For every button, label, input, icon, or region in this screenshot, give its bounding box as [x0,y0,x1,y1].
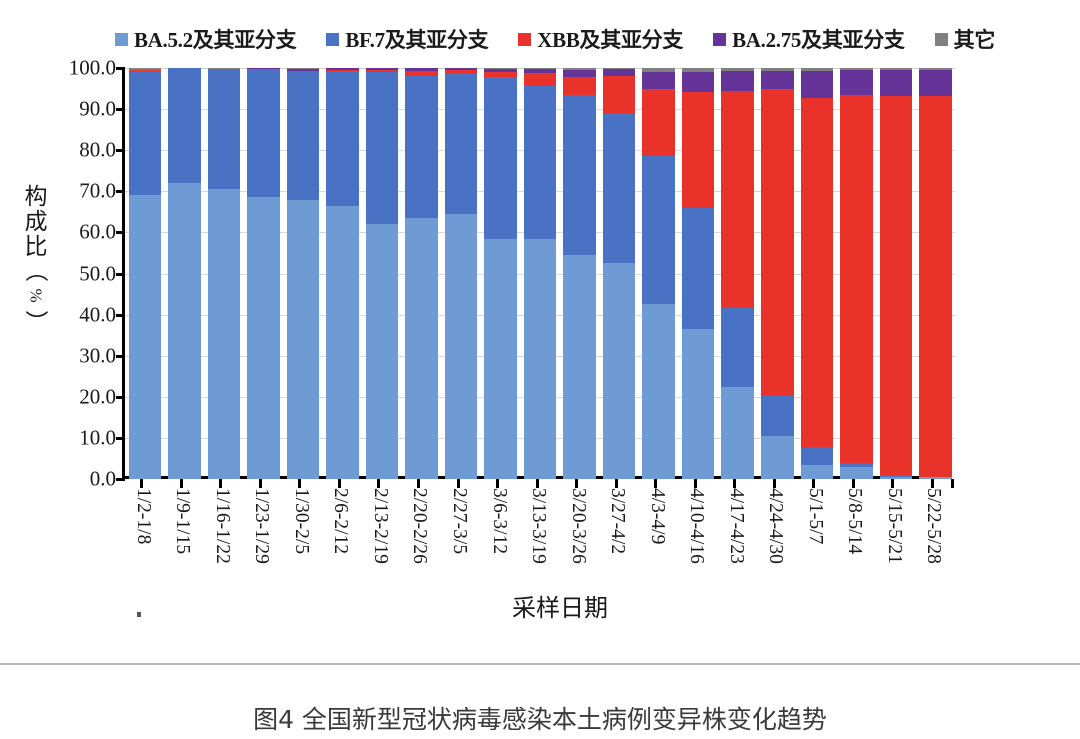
x-axis-tick-mark [259,479,262,488]
x-axis-tick-mark [852,479,855,488]
x-axis-tick-mark [694,479,697,488]
x-axis-tick-mark [733,479,736,488]
bar-segment-xbb [840,95,873,464]
plot-wrapper: 0.010.020.030.040.050.060.070.080.090.01… [122,68,952,483]
x-axis-label: 2/6-2/12 [330,488,352,554]
bar-segment-xbb [801,98,834,446]
stray-mark [137,612,141,617]
x-axis-label-cell: 5/8-5/14 [834,488,874,583]
bar-column[interactable] [323,68,363,479]
x-axis-tick-mark [496,479,499,488]
x-axis-tick-cell [517,479,557,488]
x-axis-tick-mark [338,479,341,488]
bar-stack [721,68,754,479]
bar-column[interactable] [362,68,402,479]
bar-stack [880,68,913,479]
y-axis-title-paren-close: ） [25,299,48,343]
bar-segment-ba52 [208,189,241,479]
x-axis-tick-cell [438,479,478,488]
bar-segment-ba275 [721,71,754,92]
x-axis-tick-mark [615,479,618,488]
bar-column[interactable] [837,68,877,479]
legend-label: BF.7及其亚分支 [345,24,488,54]
bar-column[interactable] [916,68,956,479]
bar-column[interactable] [204,68,244,479]
bar-stack [247,68,280,479]
legend-item: 其它 [935,24,995,54]
x-axis-tick-cell [913,479,953,488]
y-axis-tick-mark [116,396,125,399]
figure-caption: 图4 全国新型冠状病毒感染本土病例变异株变化趋势 [0,700,1080,736]
x-axis-label-cell: 5/15-5/21 [873,488,913,583]
bar-segment-bf7 [366,72,399,224]
x-axis-label: 3/20-3/26 [567,488,589,564]
y-axis-tick-mark [116,190,125,193]
x-axis-tick-cell [834,479,874,488]
bar-segment-ba52 [326,206,359,479]
y-axis-tick-label: 0.0 [90,467,116,492]
bar-column[interactable] [520,68,560,479]
bar-segment-xbb [682,92,715,208]
x-axis-label: 2/27-3/5 [448,488,470,554]
y-axis-tick-label: 90.0 [79,97,116,122]
bar-segment-bf7 [642,156,675,304]
bar-stack [603,68,636,479]
bar-stack [524,68,557,479]
bar-column[interactable] [797,68,837,479]
bar-column[interactable] [718,68,758,479]
y-axis-title: 构成比（%） [14,185,58,333]
bar-segment-bf7 [761,396,794,436]
bar-segment-ba52 [445,214,478,479]
x-axis-tick-cell [399,479,439,488]
x-axis-tick-mark [219,479,222,488]
x-axis-label: 4/17-4/23 [725,488,747,564]
x-axis-tick-cell [873,479,913,488]
y-axis-tick-mark [116,355,125,358]
legend-swatch-icon [713,33,726,46]
bar-stack [682,68,715,479]
x-axis-label: 3/6-3/12 [488,488,510,554]
figure-container: BA.5.2及其亚分支BF.7及其亚分支XBB及其亚分支BA.2.75及其亚分支… [0,0,1080,739]
y-axis-tick-label: 50.0 [79,261,116,286]
x-axis-tick-cell [636,479,676,488]
bar-stack [642,68,675,479]
x-axis-title: 采样日期 [0,588,1080,623]
bar-segment-bf7 [208,69,241,189]
x-axis-tick-cell [320,479,360,488]
x-axis-label: 5/15-5/21 [883,488,905,564]
bar-column[interactable] [678,68,718,479]
x-axis-label-cell: 2/20-2/26 [399,488,439,583]
y-axis-tick-mark [116,67,125,70]
x-axis-tick-cell [280,479,320,488]
x-axis-label-cell: 3/6-3/12 [478,488,518,583]
x-axis-label-cell: 1/30-2/5 [280,488,320,583]
bar-segment-ba52 [840,467,873,479]
y-axis-tick-mark [116,273,125,276]
bar-segment-xbb [919,96,952,476]
bar-stack [208,68,241,479]
bar-segment-ba275 [603,69,636,76]
bar-segment-ba52 [563,255,596,479]
x-axis-tick-cell [794,479,834,488]
y-axis-title-char: 构 [14,185,58,210]
bar-column[interactable] [125,68,165,479]
x-axis-tick-mark [140,479,143,488]
x-axis-label: 2/13-2/19 [369,488,391,564]
bar-column[interactable] [165,68,205,479]
x-axis-tick-mark [951,479,954,488]
legend-label: BA.2.75及其亚分支 [732,24,905,54]
y-axis-tick-mark [116,314,125,317]
bar-stack [326,68,359,479]
x-axis-tick-mark [298,479,301,488]
y-axis-tick-label: 60.0 [79,220,116,245]
legend-item: BA.5.2及其亚分支 [115,24,296,54]
bar-segment-bf7 [603,113,636,263]
x-axis-tick-mark [377,479,380,488]
legend-label: 其它 [954,24,995,54]
bar-segment-bf7 [247,69,280,197]
x-axis-label-cell: 3/13-3/19 [517,488,557,583]
x-axis-label-cell: 1/9-1/15 [162,488,202,583]
x-axis-label: 4/3-4/9 [646,488,668,544]
bar-column[interactable] [402,68,442,479]
x-axis-tick-cell [715,479,755,488]
plot-area: 0.010.020.030.040.050.060.070.080.090.01… [122,68,952,479]
bar-segment-xbb [761,89,794,395]
x-axis-tick-mark [180,479,183,488]
bar-segment-bf7 [326,71,359,206]
bar-series-group [125,68,955,479]
x-axis-tick-mark [457,479,460,488]
bar-stack [919,68,952,479]
x-axis-label-cell: 1/16-1/22 [201,488,241,583]
bar-column[interactable] [441,68,481,479]
x-axis-label: 5/22-5/28 [922,488,944,564]
bar-stack [405,68,438,479]
bar-segment-ba52 [405,218,438,479]
bar-segment-xbb [642,89,675,157]
legend-swatch-icon [518,33,531,46]
bar-stack [168,68,201,479]
x-axis-labels: 1/2-1/81/9-1/151/16-1/221/23-1/291/30-2/… [122,488,952,583]
y-axis-tick-label: 20.0 [79,384,116,409]
bar-segment-bf7 [287,71,320,199]
bar-segment-xbb [880,96,913,475]
bar-segment-ba275 [642,72,675,88]
legend-swatch-icon [115,33,128,46]
x-axis-label-cell: 3/20-3/26 [557,488,597,583]
legend-swatch-icon [326,33,339,46]
x-axis-tick-mark [891,479,894,488]
y-axis-tick-mark [116,108,125,111]
bar-stack [761,68,794,479]
y-axis-tick-label: 10.0 [79,425,116,450]
legend-item: BA.2.75及其亚分支 [713,24,905,54]
bar-segment-bf7 [563,95,596,255]
x-axis-label-cell: 4/10-4/16 [675,488,715,583]
x-axis-label-cell: 4/17-4/23 [715,488,755,583]
legend-item: BF.7及其亚分支 [326,24,488,54]
x-axis-tick-mark [931,479,934,488]
bar-segment-xbb [524,73,557,85]
y-axis-tick-label: 80.0 [79,138,116,163]
bar-segment-ba52 [642,304,675,479]
bar-segment-xbb [603,76,636,113]
x-axis-label: 5/8-5/14 [843,488,865,554]
bar-stack [840,68,873,479]
bar-segment-ba275 [880,70,913,96]
bar-stack [484,68,517,479]
x-axis-label-cell: 4/24-4/30 [755,488,795,583]
bar-column[interactable] [244,68,284,479]
x-axis-tick-cell [675,479,715,488]
x-axis-tick-cell [557,479,597,488]
x-axis-label-cell: 3/27-4/2 [596,488,636,583]
bar-segment-xbb [563,77,596,95]
x-axis-label-cell: 5/22-5/28 [913,488,953,583]
bar-stack [129,68,162,479]
bar-column[interactable] [599,68,639,479]
x-axis-label: 3/13-3/19 [527,488,549,564]
bar-segment-ba52 [247,197,280,479]
legend-item: XBB及其亚分支 [518,24,683,54]
bar-segment-bf7 [405,76,438,218]
x-axis-label-cell: 1/2-1/8 [122,488,162,583]
x-axis-label: 4/24-4/30 [764,488,786,564]
bar-segment-ba52 [366,224,399,479]
y-axis-tick-label: 40.0 [79,302,116,327]
legend-swatch-icon [935,33,948,46]
x-axis-tick-mark [575,479,578,488]
x-axis-tick-mark [654,479,657,488]
bar-segment-bf7 [129,71,162,196]
bar-column[interactable] [560,68,600,479]
bar-segment-ba52 [721,387,754,479]
bar-column[interactable] [283,68,323,479]
bar-segment-ba52 [287,200,320,479]
bar-segment-bf7 [445,74,478,214]
bar-segment-ba52 [761,436,794,479]
bar-segment-ba275 [840,70,873,95]
bar-segment-ba275 [761,71,794,89]
bar-segment-ba275 [563,70,596,77]
bar-segment-bf7 [524,86,557,239]
x-axis-tick-cell [359,479,399,488]
bar-segment-bf7 [168,68,201,183]
bar-segment-ba52 [603,263,636,479]
x-axis-label-cell: 5/1-5/7 [794,488,834,583]
x-axis-tick-cell [478,479,518,488]
bar-column[interactable] [481,68,521,479]
bar-segment-xbb [721,91,754,307]
bar-stack [287,68,320,479]
x-axis-label: 1/2-1/8 [132,488,154,544]
bar-segment-ba52 [682,329,715,479]
x-axis-ticks [122,479,952,488]
bar-stack [445,68,478,479]
bar-column[interactable] [876,68,916,479]
bar-segment-bf7 [484,77,517,239]
bar-stack [801,68,834,479]
x-axis-tick-cell [162,479,202,488]
bar-column[interactable] [758,68,798,479]
bar-segment-ba52 [129,195,162,479]
x-axis-tick-cell [241,479,281,488]
x-axis-tick-cell [596,479,636,488]
horizontal-rule [0,663,1080,665]
bar-segment-bf7 [682,208,715,329]
x-axis-label: 1/16-1/22 [211,488,233,564]
x-axis-label-cell: 2/13-2/19 [359,488,399,583]
x-axis-label: 1/30-2/5 [290,488,312,554]
y-axis-tick-label: 70.0 [79,179,116,204]
bar-stack [366,68,399,479]
y-axis-tick-mark [116,437,125,440]
x-axis-label: 5/1-5/7 [804,488,826,544]
bar-segment-bf7 [801,447,834,465]
x-axis-label: 1/23-1/29 [250,488,272,564]
y-axis-tick-label: 30.0 [79,343,116,368]
x-axis-tick-cell [122,479,162,488]
y-axis-tick-mark [116,149,125,152]
x-axis-tick-cell [201,479,241,488]
x-axis-tick-mark [812,479,815,488]
x-axis-label-cell: 2/27-3/5 [438,488,478,583]
x-axis-label: 4/10-4/16 [685,488,707,564]
bar-segment-ba52 [168,183,201,479]
bar-segment-ba52 [801,465,834,479]
x-axis-label: 2/20-2/26 [409,488,431,564]
bar-segment-ba52 [484,239,517,479]
x-axis-label-cell: 1/23-1/29 [241,488,281,583]
bar-segment-bf7 [721,308,754,387]
bar-segment-ba275 [682,72,715,92]
x-axis-label: 1/9-1/15 [171,488,193,554]
y-axis-tick-mark [116,231,125,234]
legend-label: XBB及其亚分支 [537,24,683,54]
x-axis-tick-mark [773,479,776,488]
y-axis-tick-label: 100.0 [69,56,116,81]
chart-legend: BA.5.2及其亚分支BF.7及其亚分支XBB及其亚分支BA.2.75及其亚分支… [0,22,1080,56]
x-axis-tick-mark [536,479,539,488]
x-axis-label-cell: 4/3-4/9 [636,488,676,583]
x-axis-tick-cell [755,479,795,488]
x-axis-label-cell: 2/6-2/12 [320,488,360,583]
x-axis-label: 3/27-4/2 [606,488,628,554]
y-axis-title-char: 成 [14,210,58,235]
legend-label: BA.5.2及其亚分支 [134,24,296,54]
bar-stack [563,68,596,479]
x-axis-tick-mark [417,479,420,488]
bar-segment-ba52 [524,239,557,479]
bar-column[interactable] [639,68,679,479]
bar-segment-ba275 [919,70,952,96]
bar-segment-ba275 [801,71,834,98]
